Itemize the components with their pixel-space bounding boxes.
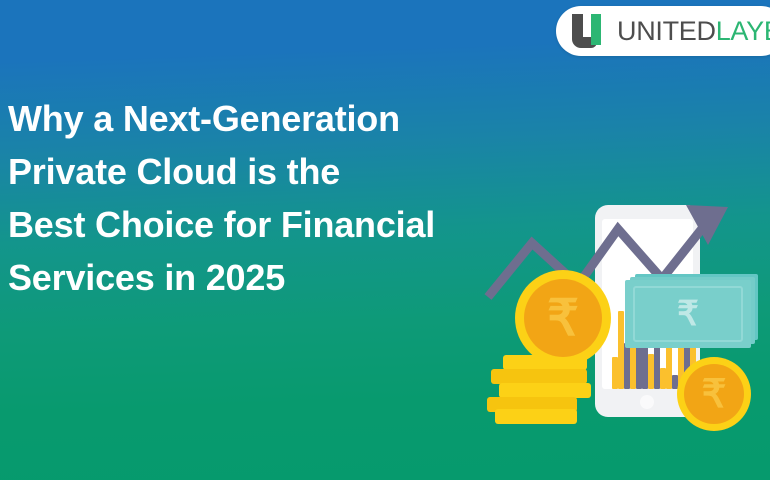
stacked-coin bbox=[499, 383, 591, 398]
headline-line-4: Services in 2025 bbox=[8, 251, 508, 304]
headline-line-1: Why a Next-Generation bbox=[8, 92, 508, 145]
coin-stack-icon bbox=[485, 355, 600, 423]
rupee-coin-small-icon: ₹ bbox=[677, 357, 751, 431]
brand-wordmark-part2: LAYER bbox=[716, 16, 770, 46]
chart-bar bbox=[660, 368, 666, 389]
brand-wordmark-part1: UNITED bbox=[617, 16, 716, 46]
stacked-coin bbox=[495, 409, 577, 424]
headline-line-2: Private Cloud is the bbox=[8, 145, 508, 198]
coin-large-face: ₹ bbox=[524, 279, 602, 357]
u-green-bar bbox=[591, 14, 601, 45]
promo-banner: UNITEDLAYER Why a Next-Generation Privat… bbox=[0, 0, 770, 480]
unitedlayer-u-mark-icon bbox=[572, 14, 606, 48]
chart-bar bbox=[648, 354, 654, 389]
chart-bar bbox=[624, 343, 630, 389]
banknote-layer-front: ₹ bbox=[625, 280, 751, 348]
rupee-banknote-icon: ₹ bbox=[625, 280, 758, 348]
financial-growth-illustration: ₹ ₹ ₹ bbox=[480, 185, 770, 445]
headline-line-3: Best Choice for Financial bbox=[8, 198, 508, 251]
stacked-coin bbox=[491, 369, 587, 384]
phone-home-button-icon bbox=[640, 395, 654, 409]
coin-small-face: ₹ bbox=[684, 364, 744, 424]
banknote-rupee-symbol: ₹ bbox=[625, 280, 751, 348]
page-title: Why a Next-Generation Private Cloud is t… bbox=[8, 92, 508, 304]
chart-bar bbox=[612, 357, 618, 389]
brand-logo[interactable]: UNITEDLAYER bbox=[556, 6, 770, 56]
rupee-coin-large-icon: ₹ bbox=[515, 270, 611, 366]
brand-wordmark: UNITEDLAYER bbox=[617, 16, 770, 47]
chart-bar bbox=[618, 311, 624, 389]
